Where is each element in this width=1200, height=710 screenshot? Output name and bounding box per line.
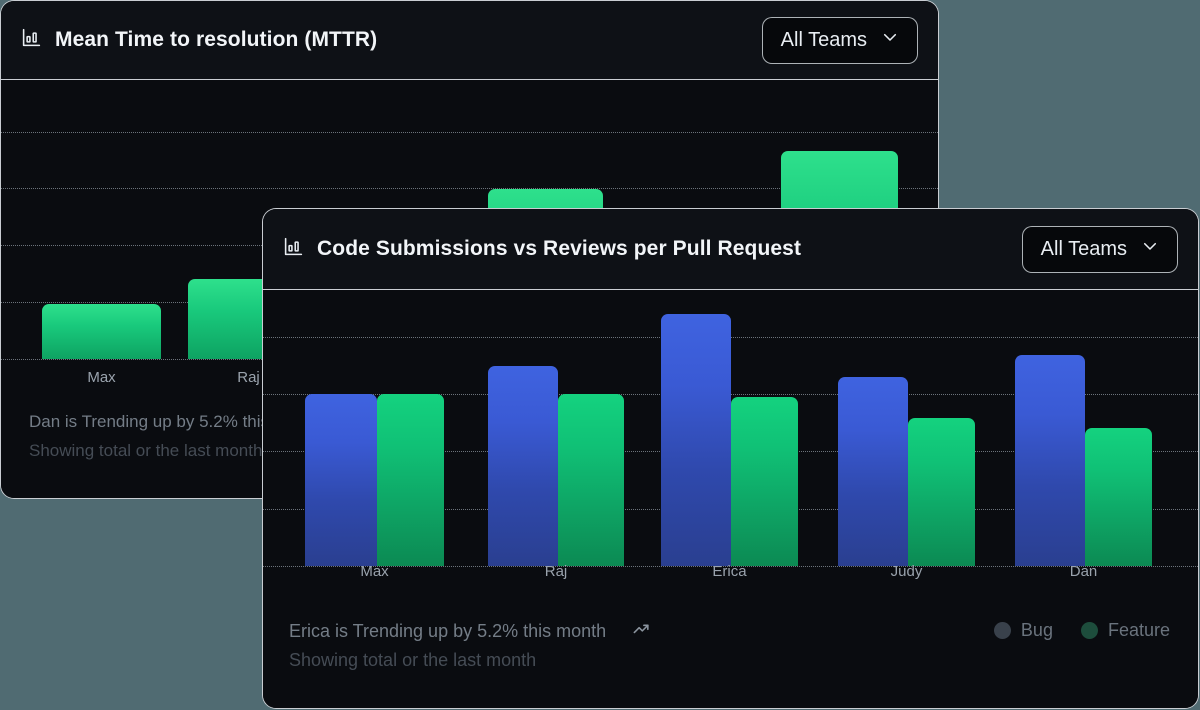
code-submissions-plot: Max Raj Erica Judy Dan	[263, 290, 1198, 602]
legend-label-feature: Feature	[1108, 620, 1170, 641]
legend-dot-bug	[994, 622, 1011, 639]
code-submissions-card-header: Code Submissions vs Reviews per Pull Req…	[263, 209, 1198, 290]
bar-judy-feature[interactable]	[908, 418, 975, 566]
mttr-subtext: Showing total or the last month	[29, 441, 262, 461]
legend-item-feature[interactable]: Feature	[1081, 620, 1170, 641]
screenshot-stage: Mean Time to resolution (MTTR) All Teams	[0, 0, 1200, 710]
chart-legend: Bug Feature	[994, 620, 1170, 641]
code-submissions-subtext: Showing total or the last month	[289, 650, 536, 671]
bar-max-feature[interactable]	[377, 394, 444, 566]
xlabel-raj: Raj	[488, 563, 624, 580]
mttr-card-header: Mean Time to resolution (MTTR) All Teams	[1, 1, 938, 80]
chevron-down-icon	[881, 28, 899, 52]
legend-item-bug[interactable]: Bug	[994, 620, 1053, 641]
code-submissions-team-filter-label: All Teams	[1041, 238, 1127, 261]
xlabel-max: Max	[305, 563, 444, 580]
mttr-title-group: Mean Time to resolution (MTTR)	[21, 27, 377, 53]
bar-raj-feature[interactable]	[558, 394, 624, 566]
mttr-team-filter[interactable]: All Teams	[762, 17, 918, 64]
bar-judy-bug[interactable]	[838, 377, 908, 566]
bar-erica-bug[interactable]	[661, 314, 731, 566]
code-submissions-card: Code Submissions vs Reviews per Pull Req…	[262, 208, 1199, 709]
bar-chart-icon	[21, 27, 42, 53]
code-submissions-chart-area: Max Raj Erica Judy Dan	[263, 290, 1198, 602]
code-submissions-title-group: Code Submissions vs Reviews per Pull Req…	[283, 236, 801, 262]
mttr-card-title: Mean Time to resolution (MTTR)	[55, 28, 377, 52]
chevron-down-icon	[1141, 237, 1159, 261]
code-submissions-trend-text: Erica is Trending up by 5.2% this month	[289, 621, 606, 642]
mttr-team-filter-label: All Teams	[781, 29, 867, 52]
bar-erica-feature[interactable]	[731, 397, 798, 566]
code-submissions-trend-row: Erica is Trending up by 5.2% this month	[289, 619, 651, 643]
xlabel-erica: Erica	[661, 563, 798, 580]
bar-dan-feature[interactable]	[1085, 428, 1152, 566]
xlabel-max: Max	[42, 369, 161, 386]
gridline	[1, 132, 938, 133]
legend-label-bug: Bug	[1021, 620, 1053, 641]
code-submissions-card-title: Code Submissions vs Reviews per Pull Req…	[317, 237, 801, 261]
code-submissions-team-filter[interactable]: All Teams	[1022, 226, 1178, 273]
bar-raj-bug[interactable]	[488, 366, 558, 566]
bar-dan-bug[interactable]	[1015, 355, 1085, 566]
xlabel-judy: Judy	[838, 563, 975, 580]
bar-max-bug[interactable]	[305, 394, 377, 566]
legend-dot-feature	[1081, 622, 1098, 639]
xlabel-dan: Dan	[1015, 563, 1152, 580]
code-submissions-card-footer: Erica is Trending up by 5.2% this month …	[263, 602, 1198, 708]
bar-chart-icon	[283, 236, 304, 262]
bar-max-feature[interactable]	[42, 304, 161, 359]
trending-up-icon	[632, 619, 651, 643]
